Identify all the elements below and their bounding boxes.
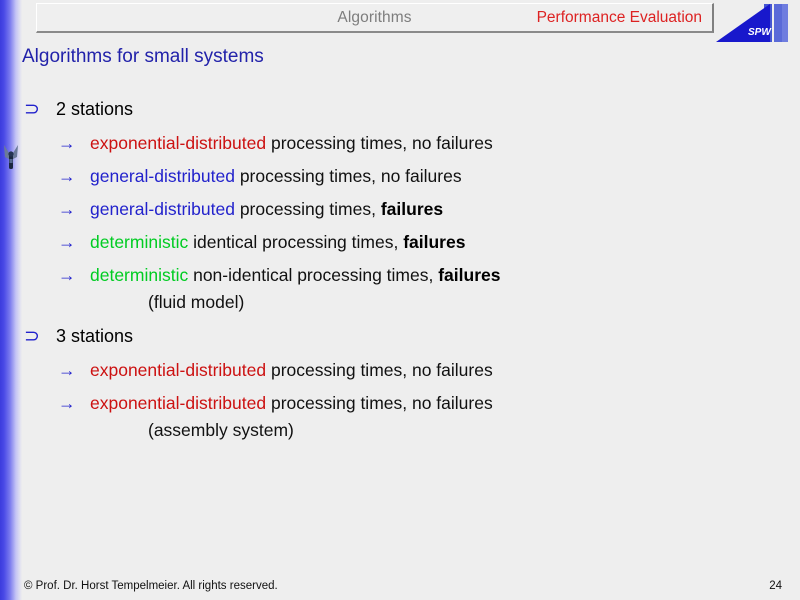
bullet-continuation: (assembly system) xyxy=(0,420,800,441)
bullet-highlight: exponential-distributed xyxy=(90,393,266,413)
bullet-level2: →exponential-distributed processing time… xyxy=(0,133,800,154)
bullet-text: processing times, no failures xyxy=(266,360,493,380)
bullet-text: processing times, no failures xyxy=(235,166,462,186)
header-right-label: Performance Evaluation xyxy=(537,9,702,27)
bullet-level1: ⊃3 stations xyxy=(0,325,800,348)
bullet-level2: →deterministic non-identical processing … xyxy=(0,265,800,286)
footer-page-number: 24 xyxy=(769,580,782,592)
bullet-bold-tail: failures xyxy=(381,199,443,219)
bullet-highlight: exponential-distributed xyxy=(90,133,266,153)
bullet-highlight: exponential-distributed xyxy=(90,360,266,380)
superset-marker-icon: ⊃ xyxy=(24,325,56,348)
arrow-marker-icon: → xyxy=(58,265,90,286)
bullet-text: non-identical processing times, xyxy=(188,265,438,285)
bullet-highlight: deterministic xyxy=(90,265,188,285)
bullet-text: processing times, no failures xyxy=(266,393,493,413)
bullet-bold-tail: failures xyxy=(438,265,500,285)
bullet-level1-label: 2 stations xyxy=(56,99,133,119)
arrow-marker-icon: → xyxy=(58,232,90,253)
bullet-text: identical processing times, xyxy=(188,232,403,252)
superset-marker-icon: ⊃ xyxy=(24,98,56,121)
bullet-continuation: (fluid model) xyxy=(0,292,800,313)
arrow-marker-icon: → xyxy=(58,166,90,187)
header-bar: Algorithms Performance Evaluation xyxy=(36,3,714,33)
page-title: Algorithms for small systems xyxy=(22,46,264,68)
bullet-highlight: general-distributed xyxy=(90,166,235,186)
bullet-level2: →general-distributed processing times, f… xyxy=(0,199,800,220)
bullet-level1: ⊃2 stations xyxy=(0,98,800,121)
bullet-level2: →general-distributed processing times, n… xyxy=(0,166,800,187)
arrow-marker-icon: → xyxy=(58,360,90,381)
bullet-text: processing times, no failures xyxy=(266,133,493,153)
footer-copyright: © Prof. Dr. Horst Tempelmeier. All right… xyxy=(24,580,278,592)
bullet-level2: →deterministic identical processing time… xyxy=(0,232,800,253)
slide-content: ⊃2 stations →exponential-distributed pro… xyxy=(0,98,800,453)
spw-logo-text: SPW xyxy=(748,27,772,38)
bullet-level1-label: 3 stations xyxy=(56,326,133,346)
bullet-bold-tail: failures xyxy=(403,232,465,252)
bullet-level2: →exponential-distributed processing time… xyxy=(0,360,800,381)
arrow-marker-icon: → xyxy=(58,393,90,414)
arrow-marker-icon: → xyxy=(58,199,90,220)
bullet-text: processing times, xyxy=(235,199,381,219)
bullet-level2: →exponential-distributed processing time… xyxy=(0,393,800,414)
bullet-highlight: deterministic xyxy=(90,232,188,252)
spw-logo: SPW xyxy=(714,2,800,50)
arrow-marker-icon: → xyxy=(58,133,90,154)
bullet-highlight: general-distributed xyxy=(90,199,235,219)
